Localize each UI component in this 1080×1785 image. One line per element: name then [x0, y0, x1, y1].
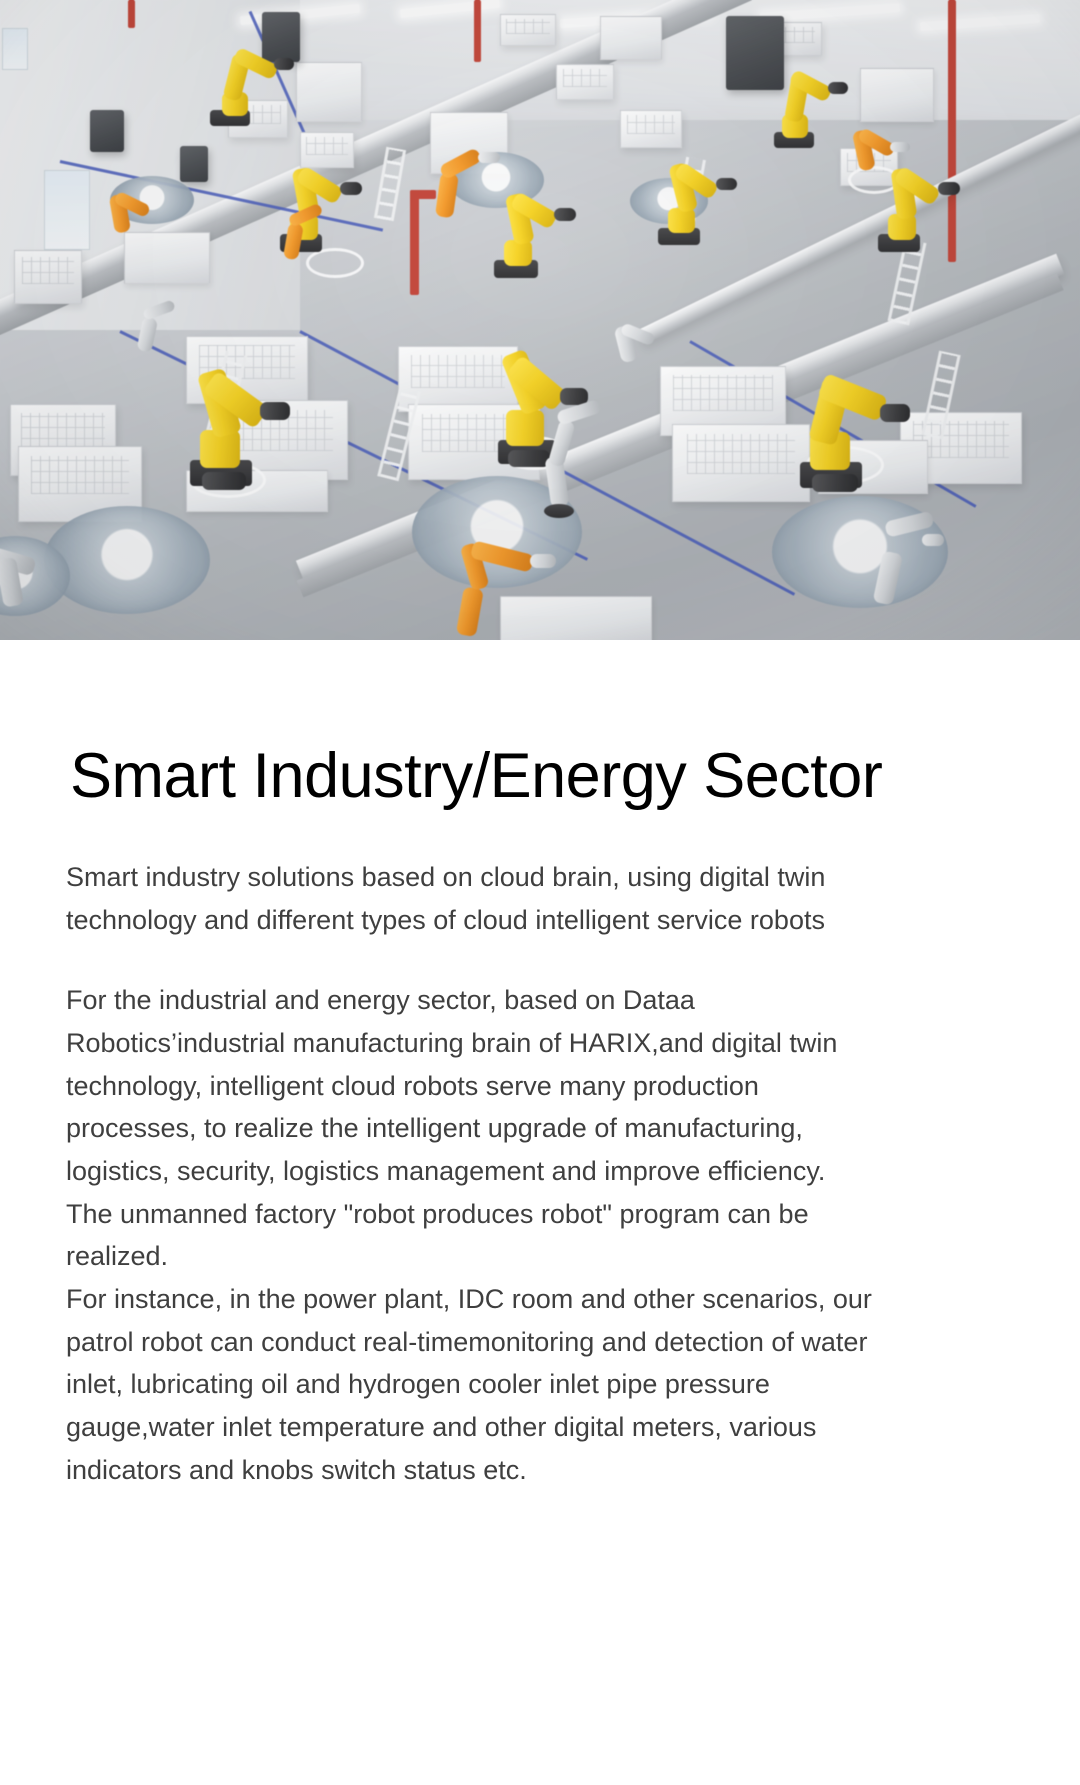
red-pipe [410, 190, 436, 199]
storage-crate [556, 64, 614, 100]
article-paragraph-group: The unmanned factory "robot produces rob… [66, 1193, 886, 1492]
article-paragraph-1: For the industrial and energy sector, ba… [66, 979, 886, 1192]
article-paragraph-2: The unmanned factory "robot produces rob… [66, 1193, 886, 1278]
work-table [860, 68, 934, 122]
red-pipe [474, 0, 481, 62]
article-content: Smart Industry/Energy Sector Smart indus… [0, 640, 1080, 1491]
work-table [296, 62, 362, 122]
floor-ring [306, 248, 364, 278]
work-table [600, 16, 662, 60]
article-body: Smart industry solutions based on cloud … [0, 856, 886, 1491]
machine-panel [180, 146, 208, 182]
wall-poster [44, 170, 90, 250]
red-pipe [128, 0, 135, 28]
article-paragraph-3: For instance, in the power plant, IDC ro… [66, 1278, 886, 1491]
machine-panel [262, 12, 300, 62]
page-title: Smart Industry/Energy Sector [0, 640, 1080, 810]
wall-poster [2, 28, 28, 70]
hero-image [0, 0, 1080, 640]
work-table [500, 596, 652, 640]
storage-crate [620, 110, 682, 148]
factory-scene [0, 0, 1080, 640]
turntable [44, 506, 210, 614]
red-pipe [948, 0, 956, 262]
storage-crate [14, 250, 82, 304]
machine-panel [90, 110, 124, 152]
storage-crate [300, 132, 354, 168]
storage-crate [672, 424, 810, 502]
storage-crate [500, 14, 556, 46]
machine-panel [726, 16, 784, 90]
red-pipe [410, 190, 419, 295]
article-lede: Smart industry solutions based on cloud … [66, 856, 886, 941]
work-table [124, 232, 210, 284]
